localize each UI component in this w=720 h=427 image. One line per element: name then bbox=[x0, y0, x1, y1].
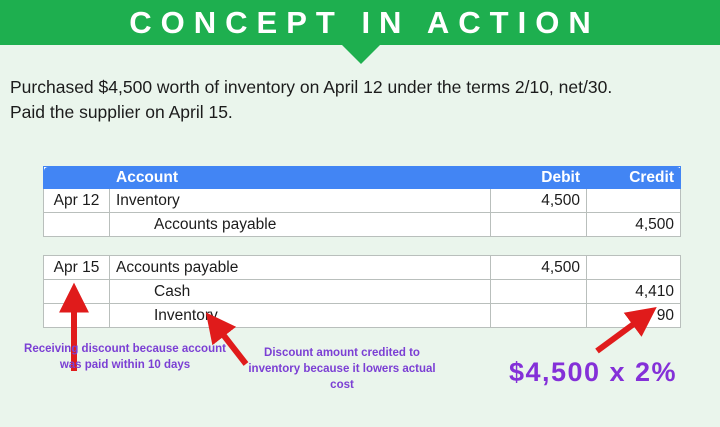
concept-in-action-banner: CONCEPT IN ACTION bbox=[0, 0, 720, 45]
cell-credit bbox=[587, 189, 681, 213]
cell-account: Accounts payable bbox=[110, 213, 491, 237]
column-header-account: Account bbox=[110, 167, 491, 189]
journal-entry-block-apr-12: Account Debit Credit Apr 12 Inventory 4,… bbox=[43, 166, 680, 237]
cell-date bbox=[44, 213, 110, 237]
cell-debit bbox=[491, 304, 587, 328]
table-row: Inventory 90 bbox=[44, 304, 681, 328]
column-header-debit: Debit bbox=[491, 167, 587, 189]
cell-account: Accounts payable bbox=[110, 256, 491, 280]
table-row: Accounts payable 4,500 bbox=[44, 213, 681, 237]
cell-date bbox=[44, 304, 110, 328]
column-header-date bbox=[44, 167, 110, 189]
cell-credit: 90 bbox=[587, 304, 681, 328]
annotation-discount-reason: Receiving discount because account was p… bbox=[12, 342, 238, 374]
discount-formula: $4,500 x 2% bbox=[478, 357, 708, 388]
cell-credit: 4,500 bbox=[587, 213, 681, 237]
cell-debit bbox=[491, 280, 587, 304]
table-header-row: Account Debit Credit bbox=[44, 167, 681, 189]
scenario-description: Purchased $4,500 worth of inventory on A… bbox=[10, 75, 710, 125]
journal-entry-block-apr-15: Apr 15 Accounts payable 4,500 Cash 4,410… bbox=[43, 255, 680, 328]
cell-debit bbox=[491, 213, 587, 237]
journal-table-1: Account Debit Credit Apr 12 Inventory 4,… bbox=[43, 166, 681, 237]
banner-title: CONCEPT IN ACTION bbox=[120, 7, 599, 38]
cell-date: Apr 15 bbox=[44, 256, 110, 280]
description-line-1: Purchased $4,500 worth of inventory on A… bbox=[10, 75, 710, 100]
table-row: Apr 15 Accounts payable 4,500 bbox=[44, 256, 681, 280]
cell-account: Inventory bbox=[110, 304, 491, 328]
cell-debit: 4,500 bbox=[491, 189, 587, 213]
cell-date: Apr 12 bbox=[44, 189, 110, 213]
banner-notch-triangle bbox=[342, 45, 380, 64]
description-line-2: Paid the supplier on April 15. bbox=[10, 100, 710, 125]
cell-credit bbox=[587, 256, 681, 280]
journal-table-2: Apr 15 Accounts payable 4,500 Cash 4,410… bbox=[43, 255, 681, 328]
table-row: Apr 12 Inventory 4,500 bbox=[44, 189, 681, 213]
cell-debit: 4,500 bbox=[491, 256, 587, 280]
cell-date bbox=[44, 280, 110, 304]
cell-account: Inventory bbox=[110, 189, 491, 213]
cell-credit: 4,410 bbox=[587, 280, 681, 304]
table-row: Cash 4,410 bbox=[44, 280, 681, 304]
cell-account: Cash bbox=[110, 280, 491, 304]
annotation-inventory-credit-reason: Discount amount credited to inventory be… bbox=[245, 346, 439, 394]
column-header-credit: Credit bbox=[587, 167, 681, 189]
